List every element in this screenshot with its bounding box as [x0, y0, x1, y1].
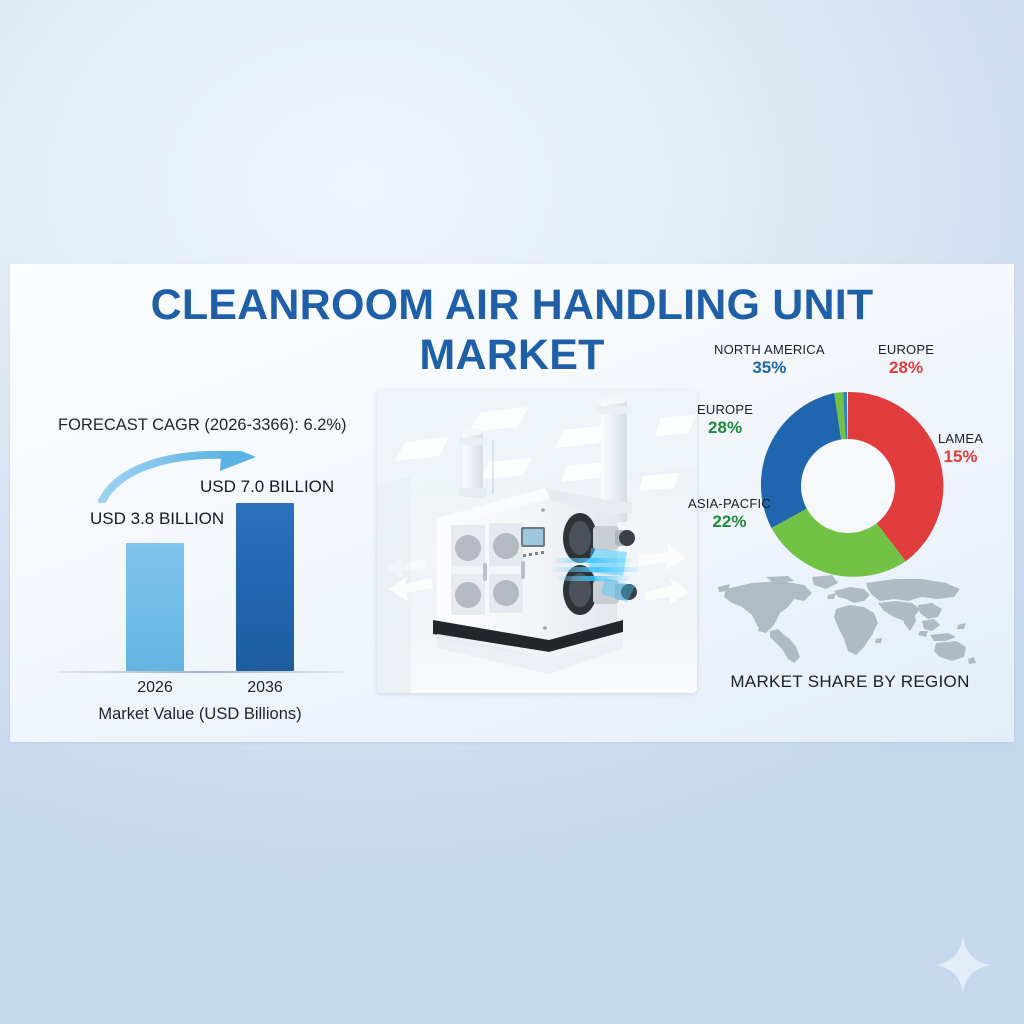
air-handling-unit-photo	[377, 390, 697, 693]
infographic-card: CLEANROOM AIR HANDLING UNIT MARKET FOREC…	[10, 264, 1014, 742]
bar-tick-2026: 2026	[125, 679, 185, 697]
donut-label-north-america: NORTH AMERICA 35%	[714, 342, 825, 378]
sparkle-icon	[932, 934, 994, 996]
bar-tick-2036: 2036	[235, 679, 295, 697]
bar-plot-area	[50, 475, 350, 671]
donut-label-europe-right: EUROPE 28%	[878, 342, 934, 378]
bar-chart-panel: FORECAST CAGR (2026-3366): 6.2%) USD 3.8…	[50, 429, 370, 729]
donut-label-asia-pacific: ASIA-PACFIC 22%	[688, 496, 771, 532]
bar-axis-line	[58, 671, 343, 673]
bar-axis-title: Market Value (USD Billions)	[50, 705, 350, 724]
market-share-donut-chart	[748, 386, 948, 586]
bar-2036	[236, 503, 294, 671]
donut-label-europe-left: EUROPE 28%	[697, 402, 753, 438]
world-map-graphic	[708, 573, 996, 665]
donut-label-lamea: LAMEA 15%	[938, 431, 983, 467]
donut-chart-panel: NORTH AMERICA 35% EUROPE 28% EUROPE 28% …	[700, 359, 1000, 699]
bar-2026	[126, 543, 184, 671]
market-share-caption: MARKET SHARE BY REGION	[700, 672, 1000, 692]
cagr-annotation: FORECAST CAGR (2026-3366): 6.2%)	[58, 416, 358, 435]
